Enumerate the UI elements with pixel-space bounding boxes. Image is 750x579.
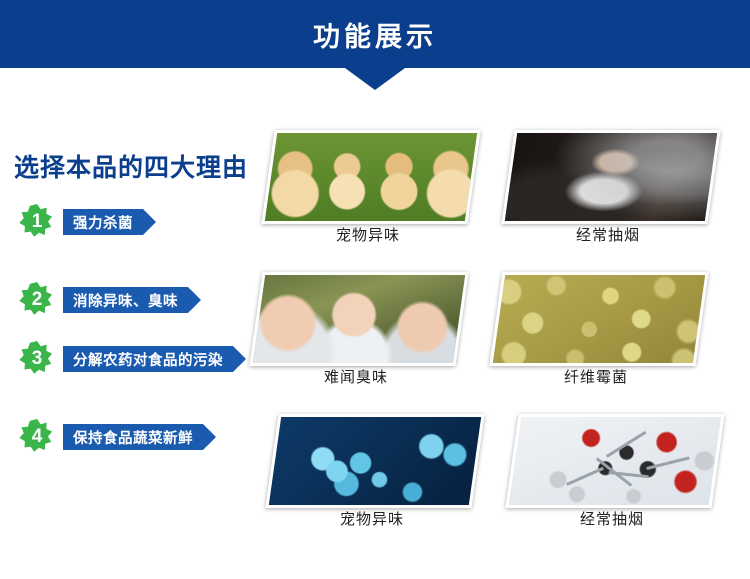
- molecule-bond: [646, 456, 689, 470]
- reason-label-3: 分解农药对食品的污染: [63, 346, 233, 372]
- reason-number-1: 1: [18, 203, 56, 241]
- feature-tile-6: 经常抽烟: [512, 414, 718, 508]
- promo-page: 功能展示 选择本品的四大理由 1 强力杀菌 2 消除异味、臭味 3: [0, 0, 750, 579]
- header-banner: 功能展示: [0, 0, 750, 68]
- smoking-man-photo: [501, 130, 720, 224]
- tile-image-frame: [505, 414, 724, 508]
- feature-tile-1: 宠物异味: [268, 130, 474, 224]
- tile-image-frame: [265, 414, 484, 508]
- star-icon: 2: [18, 281, 56, 319]
- banner-title: 功能展示: [313, 15, 437, 54]
- reason-label-4: 保持食品蔬菜新鲜: [63, 424, 203, 450]
- reason-item-3: 3 分解农药对食品的污染: [18, 340, 233, 378]
- tile-image-frame: [501, 130, 720, 224]
- feature-tile-5: 宠物异味: [272, 414, 478, 508]
- star-icon: 1: [18, 203, 56, 241]
- reason-label-1: 强力杀菌: [63, 209, 143, 235]
- tile-image-frame: [489, 272, 708, 366]
- feature-tile-3: 难闻臭味: [256, 272, 462, 366]
- molecule-bond: [606, 431, 647, 458]
- feature-tile-2: 经常抽烟: [508, 130, 714, 224]
- reason-item-2: 2 消除异味、臭味: [18, 281, 188, 319]
- tile-caption-6: 经常抽烟: [512, 508, 712, 529]
- reason-item-1: 1 强力杀菌: [18, 203, 143, 241]
- reason-number-4: 4: [18, 418, 56, 456]
- star-icon: 3: [18, 340, 56, 378]
- tile-caption-2: 经常抽烟: [508, 224, 708, 245]
- reason-label-2: 消除异味、臭味: [63, 287, 188, 313]
- reason-number-2: 2: [18, 281, 56, 319]
- tile-caption-3: 难闻臭味: [256, 366, 456, 387]
- molecule-model-photo: [505, 414, 724, 508]
- bacteria-microscope-photo: [265, 414, 484, 508]
- molecule-bond: [609, 471, 649, 478]
- feature-tile-4: 纤维霉菌: [496, 272, 702, 366]
- star-icon: 4: [18, 418, 56, 456]
- page-title: 选择本品的四大理由: [14, 148, 248, 184]
- mold-microscope-photo: [489, 272, 708, 366]
- puppies-photo: [261, 130, 480, 224]
- reason-number-3: 3: [18, 340, 56, 378]
- molecule-bond: [566, 467, 604, 486]
- tile-caption-4: 纤维霉菌: [496, 366, 696, 387]
- tile-image-frame: [261, 130, 480, 224]
- reason-item-4: 4 保持食品蔬菜新鲜: [18, 418, 203, 456]
- children-covering-nose-photo: [249, 272, 468, 366]
- tile-image-frame: [249, 272, 468, 366]
- banner-notch-arrow: [345, 68, 405, 90]
- tile-caption-5: 宠物异味: [272, 508, 472, 529]
- tile-caption-1: 宠物异味: [268, 224, 468, 245]
